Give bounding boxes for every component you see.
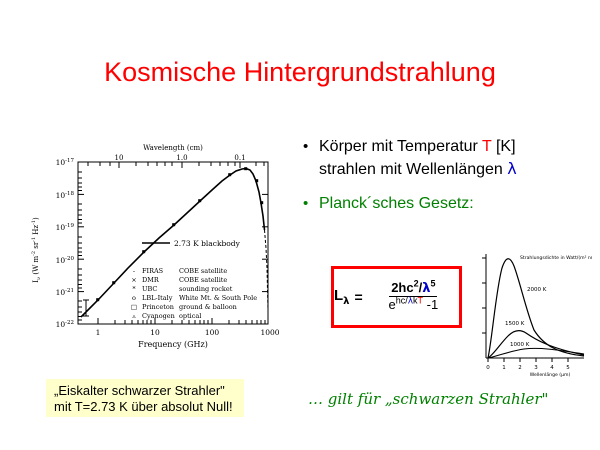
planck-formula-box: Lλ = 2hc2/λ5 ehc/λkT -1	[331, 266, 462, 328]
cmb-spectrum-figure: Wavelength (cm) 10 1.0 0.1	[24, 140, 286, 362]
formula-fraction: 2hc2/λ5 ehc/λkT -1	[368, 280, 459, 314]
bullet-item-1: • Körper mit Temperatur T [K] strahlen m…	[303, 136, 593, 181]
planck-label-1500k: 1500 K	[505, 321, 525, 327]
cmb-x-tick-2: 100	[205, 328, 220, 337]
formula-left-side: Lλ	[334, 287, 350, 307]
inset-x-tick-1: 1	[502, 365, 506, 371]
legend-name-3: LBL-Italy	[142, 294, 173, 302]
bullet-text-body-a: Körper mit Temperatur	[319, 138, 482, 155]
cmb-x-tick-0: 1	[96, 328, 101, 337]
inset-x-tick-labels: 0 1 2 3 4 5	[486, 365, 570, 371]
cmb-x-tick-3: 1000	[260, 328, 279, 337]
bullet-text-unit: [K]	[492, 138, 516, 155]
legend-sym-4: □	[131, 303, 137, 311]
inset-x-tick-4: 4	[550, 365, 554, 371]
legend-src-5: optical	[179, 312, 201, 320]
inset-x-axis-label: Wellenlänge (µm)	[530, 372, 571, 378]
formula-den-tail: -1	[423, 297, 438, 312]
planck-label-2000k: 2000 K	[527, 287, 547, 293]
bullet-line-1b: strahlen mit Wellenlängen λ	[319, 158, 517, 181]
cmb-y-tick-0: 10-17	[56, 158, 75, 167]
legend-sym-2: *	[132, 285, 136, 293]
formula-numerator: 2hc2/λ5	[389, 280, 437, 297]
bullet-text-1: Körper mit Temperatur T [K] strahlen mit…	[319, 136, 517, 181]
legend-sym-3: o	[132, 294, 136, 302]
temperature-symbol: T	[482, 138, 491, 155]
cmb-y-tick-1: 10-18	[56, 191, 75, 200]
legend-name-2: UBC	[142, 285, 157, 293]
cmb-spectrum-svg: Wavelength (cm) 10 1.0 0.1	[24, 140, 286, 362]
formula-num-2hc: 2hc	[391, 280, 413, 295]
cmb-top-axis-label: Wavelength (cm)	[143, 144, 203, 152]
bullet-item-2: • Planck´sches Gesetz:	[303, 193, 593, 215]
legend-src-3: White Mt. & South Pole	[179, 294, 257, 302]
callout-line-2: mit T=2.73 K über absolut Null!	[54, 399, 238, 415]
bullet-text-2: Planck´sches Gesetz:	[319, 193, 474, 215]
planck-inset-svg: 0 1 2 3 4 5 Strahlungsdichte in Watt/(m²…	[472, 250, 592, 378]
inset-x-tick-5: 5	[566, 365, 570, 371]
script-note: … gilt für „schwarzen Strahler"	[308, 390, 588, 408]
inset-y-ticks	[482, 258, 486, 333]
page-title: Kosmische Hintergrundstrahlung	[0, 57, 600, 88]
cmb-legend-table: - FIRAS COBE satellite × DMR COBE satell…	[131, 267, 257, 320]
cmb-top-tick-1: 1.0	[176, 154, 187, 162]
planck-label-1000k: 1000 K	[510, 342, 530, 348]
legend-name-0: FIRAS	[142, 267, 163, 275]
cmb-y-tick-3: 10-20	[56, 256, 75, 265]
inset-axis-note: Strahlungsdichte in Watt/(m² nm)	[520, 255, 592, 261]
formula-denominator: ehc/λkT -1	[388, 296, 438, 312]
legend-name-4: Princeton	[142, 303, 174, 311]
cmb-y-tick-2: 10-19	[56, 223, 75, 232]
bullet-text-body-b: strahlen mit Wellenlängen	[319, 161, 507, 178]
lambda-symbol: λ	[507, 159, 516, 178]
legend-name-5: Cyanogen	[142, 312, 175, 320]
legend-sym-0: -	[133, 267, 135, 275]
formula-L: L	[334, 287, 343, 304]
bullet-line-1a: Körper mit Temperatur T [K]	[319, 136, 517, 158]
callout-line-1: „Eiskalter schwarzer Strahler"	[54, 383, 238, 399]
cmb-curve-label: 2.73 K blackbody	[174, 239, 241, 248]
inset-x-tick-0: 0	[486, 365, 490, 371]
bullet-list: • Körper mit Temperatur T [K] strahlen m…	[303, 136, 593, 217]
legend-sym-5: ▵	[132, 312, 136, 320]
formula-den-e: e	[388, 297, 395, 312]
callout-box: „Eiskalter schwarzer Strahler" mit T=2.7…	[46, 379, 244, 417]
formula-num-exp-5: 5	[430, 279, 435, 289]
bullet-marker-icon-2: •	[303, 193, 319, 215]
planck-formula: Lλ = 2hc2/λ5 ehc/λkT -1	[334, 280, 459, 314]
cmb-top-tick-0: 10	[115, 154, 124, 162]
cmb-curve-dashed	[265, 230, 269, 310]
formula-den-exp-hc: hc/	[396, 296, 408, 306]
planck-curves-inset: 0 1 2 3 4 5 Strahlungsdichte in Watt/(m²…	[472, 250, 592, 378]
legend-src-0: COBE satellite	[179, 267, 227, 275]
formula-equals-sign: =	[355, 289, 363, 305]
legend-name-1: DMR	[142, 276, 160, 284]
cmb-top-tick-2: 0.1	[234, 154, 245, 162]
slide-canvas: Kosmische Hintergrundstrahlung Wavelengt…	[0, 0, 600, 450]
bullet-marker-icon: •	[303, 136, 319, 158]
cmb-x-axis-label: Frequency (GHz)	[138, 340, 208, 349]
legend-sym-1: ×	[131, 276, 136, 284]
bullet-line-2: Planck´sches Gesetz:	[319, 193, 474, 215]
cmb-x-tick-1: 10	[150, 328, 160, 337]
legend-src-1: COBE satellite	[179, 276, 227, 284]
inset-x-tick-3: 3	[534, 365, 538, 371]
legend-src-4: ground & balloon	[179, 303, 237, 311]
inset-x-ticks	[488, 358, 568, 362]
cmb-y-axis-label: Iν (W m-2 sr-1 Hz-1)	[31, 217, 42, 283]
cmb-y-tick-5: 10-22	[56, 320, 74, 329]
legend-src-2: sounding rocket	[179, 285, 233, 293]
inset-x-tick-2: 2	[518, 365, 522, 371]
formula-L-subscript: λ	[343, 296, 349, 307]
cmb-y-tick-4: 10-21	[56, 288, 74, 297]
